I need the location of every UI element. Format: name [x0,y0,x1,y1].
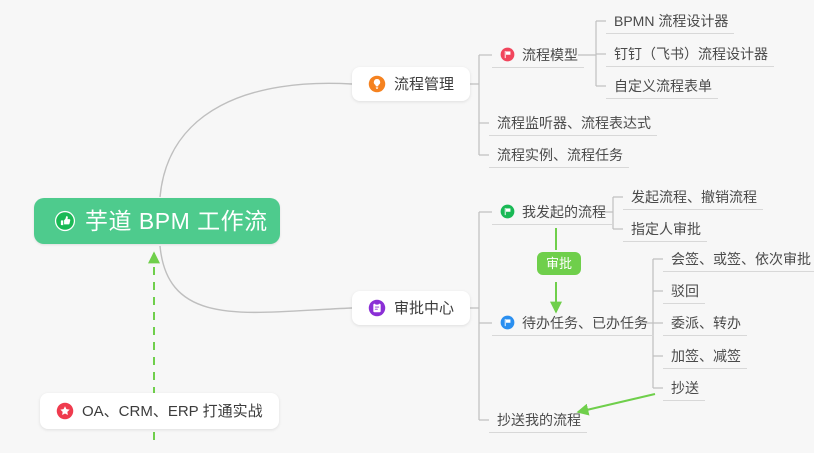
leaf-custom-process-form-label: 自定义流程表单 [614,79,712,93]
leaf-assign-approver-label: 指定人审批 [631,222,701,236]
mindmap-canvas: 芋道 BPM 工作流 OA、CRM、ERP 打通实战 流程管理 [0,0,814,453]
lightbulb-icon [368,75,386,93]
star-icon [56,402,74,420]
leaf-cc-to-me[interactable]: 抄送我的流程 [489,407,587,433]
leaf-delegate-transfer[interactable]: 委派、转办 [663,310,747,336]
bottom-note-label: OA、CRM、ERP 打通实战 [82,404,263,419]
leaf-dingtalk-feishu-designer-label: 钉钉（飞书）流程设计器 [614,47,768,61]
leaf-countersign-label: 会签、或签、依次审批 [671,252,811,266]
green-arrow-cc-to-ccme [578,394,655,412]
leaf-reject-label: 驳回 [671,284,699,298]
leaf-bpmn-designer-label: BPMN 流程设计器 [614,14,728,28]
flag-green-icon [500,204,515,219]
leaf-my-initiated[interactable]: 我发起的流程 [492,199,612,225]
root-node-label: 芋道 BPM 工作流 [85,210,268,233]
leaf-custom-process-form[interactable]: 自定义流程表单 [606,73,718,99]
leaf-start-cancel[interactable]: 发起流程、撤销流程 [623,184,763,210]
leaf-start-cancel-label: 发起流程、撤销流程 [631,190,757,204]
edge-root-to-approval-center [160,246,352,312]
leaf-cc-to-me-label: 抄送我的流程 [497,413,581,427]
leaf-my-initiated-label: 我发起的流程 [522,205,606,219]
branch-process-management[interactable]: 流程管理 [352,67,470,101]
flag-red-icon [500,47,515,62]
leaf-instance-task-label: 流程实例、流程任务 [497,148,623,162]
leaf-listener-expression[interactable]: 流程监听器、流程表达式 [489,110,657,136]
clipboard-icon [368,299,386,317]
leaf-todo-done-label: 待办任务、已办任务 [522,316,648,330]
leaf-listener-expression-label: 流程监听器、流程表达式 [497,116,651,130]
leaf-process-model-label: 流程模型 [522,48,578,62]
leaf-cc[interactable]: 抄送 [663,375,705,401]
branch-approval-center-label: 审批中心 [394,301,454,316]
leaf-cc-label: 抄送 [671,381,699,395]
branch-approval-center[interactable]: 审批中心 [352,291,470,325]
leaf-add-remove-sign-label: 加签、减签 [671,349,741,363]
leaf-delegate-transfer-label: 委派、转办 [671,316,741,330]
branch-process-management-label: 流程管理 [394,77,454,92]
leaf-add-remove-sign[interactable]: 加签、减签 [663,343,747,369]
leaf-process-model[interactable]: 流程模型 [492,42,584,68]
leaf-dingtalk-feishu-designer[interactable]: 钉钉（飞书）流程设计器 [606,41,774,67]
edge-root-to-process-management [160,83,352,197]
leaf-countersign[interactable]: 会签、或签、依次审批 [663,246,814,272]
root-node[interactable]: 芋道 BPM 工作流 [34,198,280,244]
leaf-todo-done[interactable]: 待办任务、已办任务 [492,310,654,336]
leaf-reject[interactable]: 驳回 [663,278,705,304]
leaf-bpmn-designer[interactable]: BPMN 流程设计器 [606,8,734,34]
approval-flow-tag: 审批 [537,252,581,275]
flag-blue-icon [500,315,515,330]
bottom-note-node[interactable]: OA、CRM、ERP 打通实战 [40,393,279,429]
thumbs-up-icon [54,210,76,232]
leaf-instance-task[interactable]: 流程实例、流程任务 [489,142,629,168]
leaf-assign-approver[interactable]: 指定人审批 [623,216,707,242]
